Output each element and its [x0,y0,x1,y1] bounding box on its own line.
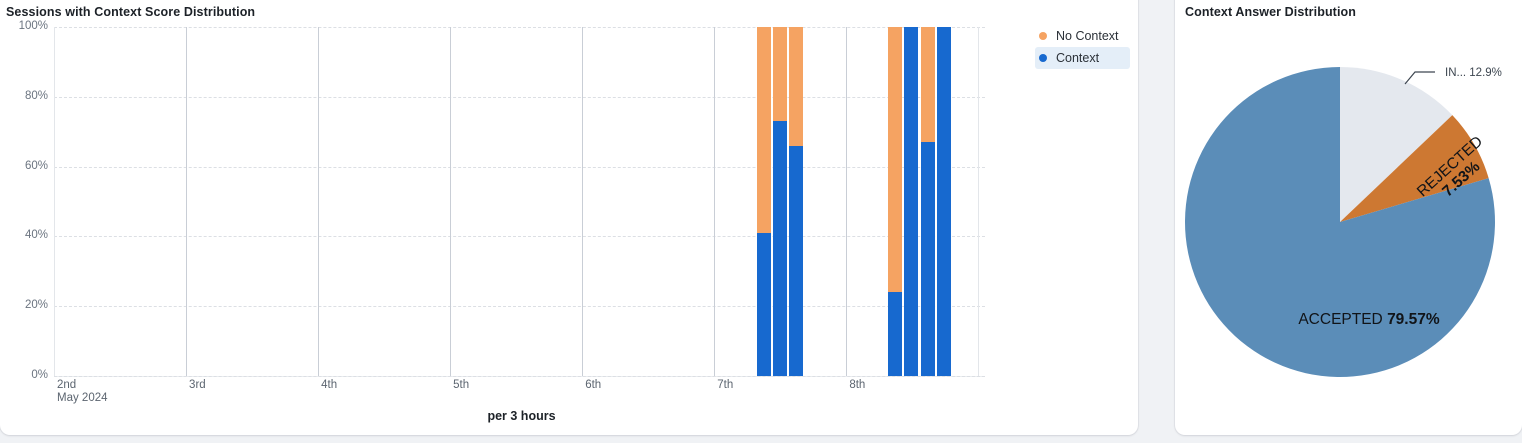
y-tick-label: 0% [0,369,48,381]
pie-label-invalid: IN... 12.9% [1445,67,1502,79]
pie-chart-svg: ACCEPTED 79.57%REJECTED7.53%IN... 12.9% [1183,62,1515,382]
x-tick-day: 8th [849,379,865,391]
pie-label-accepted: ACCEPTED 79.57% [1298,311,1440,328]
x-tick-day: 2nd [57,379,76,391]
pie-label-accepted-value: 79.57% [1387,311,1440,328]
bar-stack[interactable] [888,27,902,376]
bar-chart-plot-area [54,27,985,376]
bar-stack[interactable] [773,27,787,376]
bar-segment-context[interactable] [773,121,787,376]
bar-segment-context[interactable] [888,292,902,376]
y-tick-label: 20% [0,299,48,311]
bar-segment-context[interactable] [921,142,935,376]
bar-stack[interactable] [937,27,951,376]
bar-segment-context[interactable] [789,146,803,376]
sessions-context-score-panel: Sessions with Context Score Distribution… [0,0,1138,435]
x-tick-label: 5th [453,379,469,392]
pie-panel-title: Context Answer Distribution [1185,5,1356,19]
day-separator-4 [582,27,583,376]
x-tick-day: 5th [453,379,469,391]
dashboard-root: Sessions with Context Score Distribution… [0,0,1522,443]
bar-segment-no-context[interactable] [921,27,935,142]
bar-segment-context[interactable] [937,27,951,376]
day-separator-3 [450,27,451,376]
pie-label-invalid-name: IN... [1445,67,1469,79]
legend-item-no-context[interactable]: No Context [1035,25,1130,47]
legend-swatch-icon [1039,54,1047,62]
legend-swatch-icon [1039,32,1047,40]
x-tick-month-year: May 2024 [57,392,108,405]
context-answer-distribution-panel: Context Answer Distribution ACCEPTED 79.… [1175,0,1522,435]
day-separator-5 [714,27,715,376]
bar-stack[interactable] [921,27,935,376]
day-separator-0 [54,27,55,376]
pie-label-invalid-value: 12.9% [1469,67,1502,79]
bar-segment-no-context[interactable] [757,27,771,233]
bar-segment-no-context[interactable] [773,27,787,121]
x-tick-day: 7th [717,379,733,391]
day-separator-2 [318,27,319,376]
y-tick-label: 80% [0,90,48,102]
gridline-0 [54,376,985,377]
bar-segment-context[interactable] [757,233,771,376]
day-separator-7 [978,27,979,376]
chart-legend[interactable]: No ContextContext [1035,25,1130,69]
y-tick-label: 40% [0,229,48,241]
x-tick-label: 8th [849,379,865,392]
legend-item-label: Context [1056,51,1099,65]
bar-segment-no-context[interactable] [789,27,803,146]
bar-segment-context[interactable] [904,27,918,376]
y-tick-label: 60% [0,160,48,172]
day-separator-6 [846,27,847,376]
day-separator-1 [186,27,187,376]
pie-leader-line-invalid [1405,72,1435,84]
legend-item-label: No Context [1056,29,1119,43]
x-tick-label: 3rd [189,379,206,392]
x-axis-title: per 3 hours [0,409,1043,423]
x-tick-label: 2ndMay 2024 [57,379,108,405]
x-tick-label: 7th [717,379,733,392]
bar-stack[interactable] [789,27,803,376]
legend-item-context[interactable]: Context [1035,47,1130,69]
x-tick-day: 3rd [189,379,206,391]
y-tick-label: 100% [0,20,48,32]
x-tick-label: 4th [321,379,337,392]
x-tick-day: 4th [321,379,337,391]
x-tick-day: 6th [585,379,601,391]
bar-segment-no-context[interactable] [888,27,902,292]
x-tick-label: 6th [585,379,601,392]
page-title: Sessions with Context Score Distribution [6,5,255,19]
bar-stack[interactable] [904,27,918,376]
bar-stack[interactable] [757,27,771,376]
pie-label-accepted-name: ACCEPTED [1298,311,1387,328]
pie-chart: ACCEPTED 79.57%REJECTED7.53%IN... 12.9% [1183,62,1515,382]
